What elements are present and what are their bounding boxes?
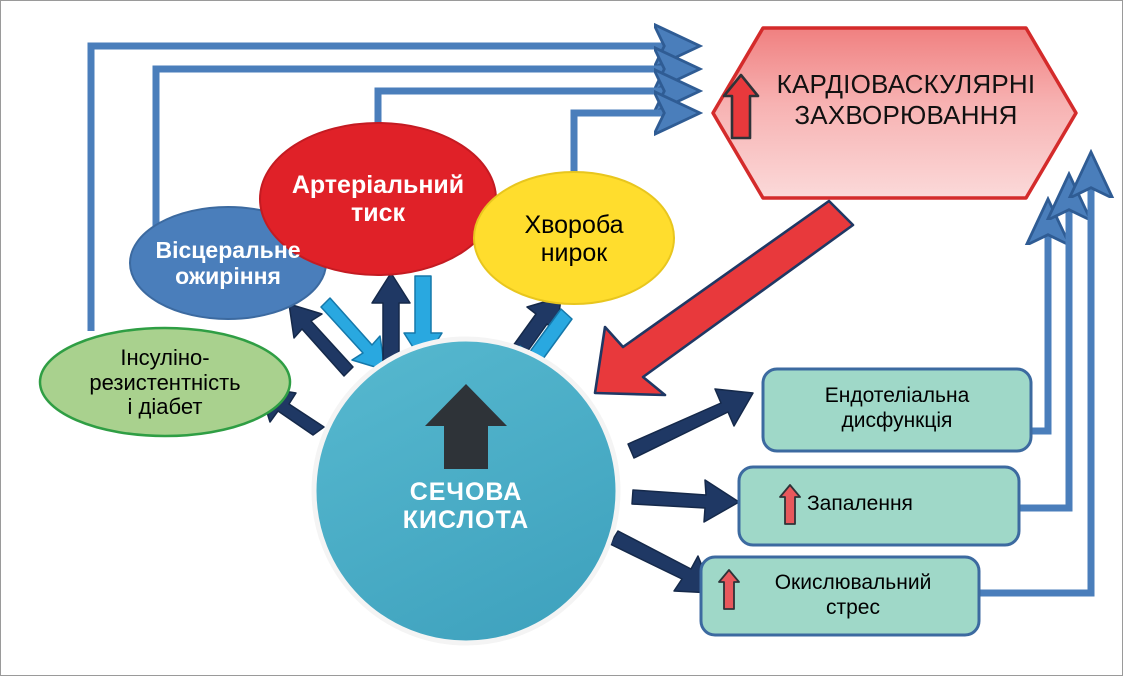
node-insulin-resistance <box>40 328 290 436</box>
cvd-label-line2: ЗАХВОРЮВАННЯ <box>756 100 1056 131</box>
inflammation-line1: Запалення <box>807 492 997 517</box>
endothelial-line1: Ендотеліальна <box>767 384 1027 409</box>
arrow-uric-acid-to-endothelial <box>628 389 753 458</box>
node-kidney-disease <box>474 172 674 304</box>
connector-inflammation-to-cvd <box>1019 181 1069 508</box>
connector-endothelial-to-cvd <box>1031 206 1048 431</box>
arrow-uric-acid-to-oxidative <box>610 531 713 593</box>
endothelial-dysfunction-label: Ендотеліальна дисфункція <box>767 384 1027 434</box>
connector-kidney-to-cvd <box>574 113 693 173</box>
oxidative-stress-label: Окислювальний стрес <box>739 571 967 621</box>
oxidative-line1: Окислювальний <box>739 571 967 596</box>
arrow-uric-acid-to-inflammation <box>632 480 739 522</box>
cardiovascular-disease-label: КАРДІОВАСКУЛЯРНІ ЗАХВОРЮВАННЯ <box>756 69 1056 131</box>
diagram-canvas: КАРДІОВАСКУЛЯРНІ ЗАХВОРЮВАННЯ Вісцеральн… <box>0 0 1123 676</box>
cvd-label-line1: КАРДІОВАСКУЛЯРНІ <box>756 69 1056 100</box>
endothelial-line2: дисфункція <box>767 409 1027 434</box>
inflammation-label: Запалення <box>807 492 997 517</box>
node-arterial-pressure <box>260 123 496 275</box>
oxidative-line2: стрес <box>739 596 967 621</box>
